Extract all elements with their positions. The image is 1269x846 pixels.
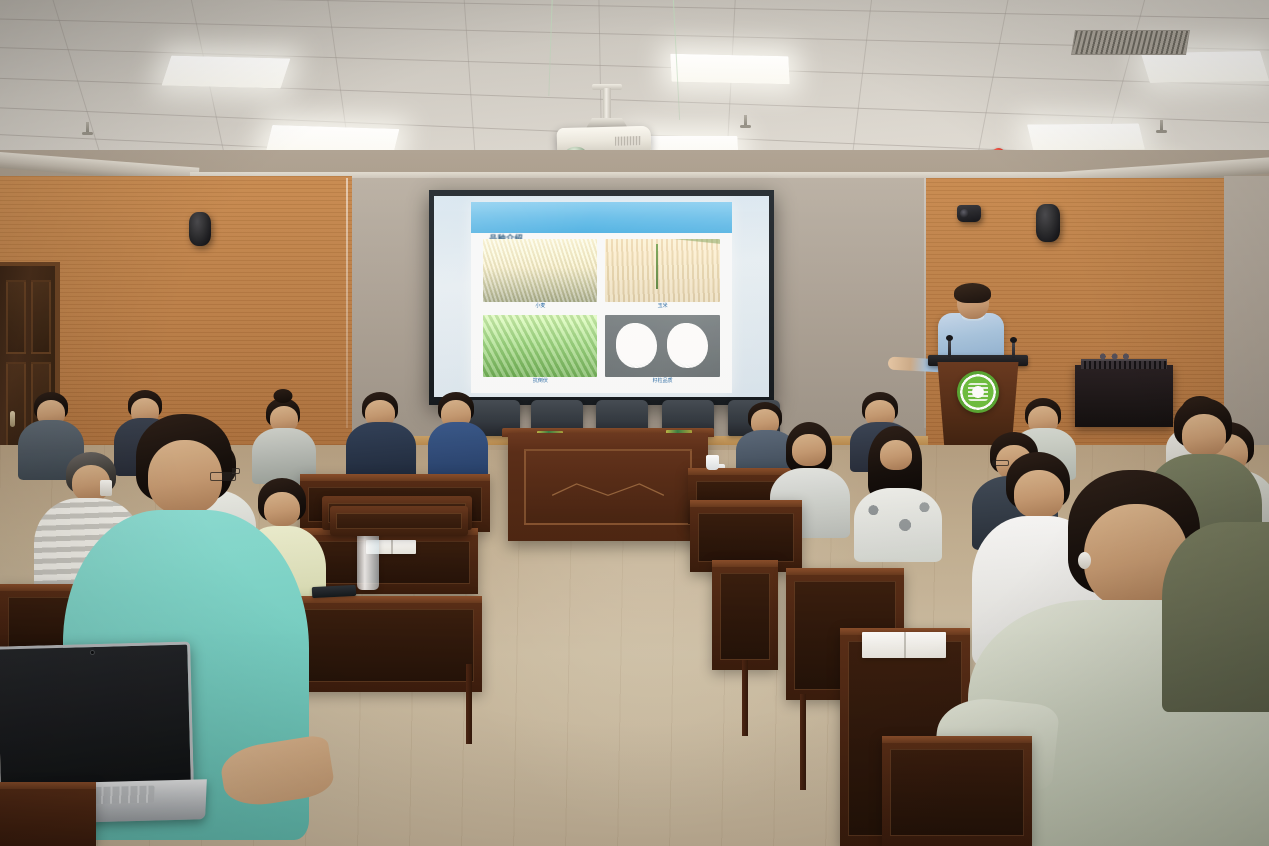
bench-desk xyxy=(882,736,1032,846)
presiding-table xyxy=(508,433,708,541)
presentation-slide: 品种介绍 小麦 玉米 抗倒伏 xyxy=(471,202,732,393)
webcam-icon xyxy=(90,650,95,655)
person-torso xyxy=(1162,522,1269,712)
grain-clump xyxy=(667,323,708,368)
paper-cup xyxy=(706,455,719,470)
person-torso xyxy=(854,488,942,562)
slide-caption: 籽粒品质 xyxy=(605,377,719,386)
bench-panel xyxy=(698,513,794,562)
slide-title-bar xyxy=(471,202,732,233)
sprinkler-head-icon xyxy=(1160,120,1163,131)
ceiling-light-panel xyxy=(670,54,790,84)
chair-leg xyxy=(800,694,806,790)
open-laptop[interactable] xyxy=(0,641,194,786)
screen-surface: 品种介绍 小麦 玉米 抗倒伏 xyxy=(434,196,769,397)
wall-speaker-right xyxy=(1036,204,1060,242)
ceiling-light-panel xyxy=(1141,51,1269,83)
door-panel xyxy=(6,280,26,354)
slide-cell-top-left: 小麦 xyxy=(483,239,597,310)
slide-cell-bottom-left: 抗倒伏 xyxy=(483,315,597,386)
earbud-icon xyxy=(1078,552,1091,569)
bench-panel xyxy=(294,609,474,682)
slide-cell-bottom-right: 籽粒品质 xyxy=(605,315,719,386)
wall-seam xyxy=(346,178,348,428)
slide-caption: 抗倒伏 xyxy=(483,377,597,386)
bench-panel xyxy=(890,749,1024,836)
chair-back[interactable] xyxy=(330,506,468,536)
person-torso xyxy=(428,422,488,478)
hair-clip-icon xyxy=(100,480,112,496)
bench-desk xyxy=(0,782,96,846)
person-torso xyxy=(346,422,416,480)
bench-panel xyxy=(720,573,770,660)
ceiling-light-panel xyxy=(1027,124,1145,151)
seedling-field-photo xyxy=(605,239,719,301)
slide-caption: 小麦 xyxy=(483,302,597,311)
slide-cell-top-right: 玉米 xyxy=(605,239,719,310)
ceiling-light-panel xyxy=(162,56,291,89)
slide-caption: 玉米 xyxy=(605,302,719,311)
sprinkler-head-icon xyxy=(86,122,89,133)
wheat-field-photo xyxy=(483,239,597,301)
chair-leg xyxy=(466,664,472,744)
mixer-knobs xyxy=(1096,352,1130,361)
wall-speaker-left xyxy=(189,212,211,246)
microphone-icon xyxy=(948,339,951,357)
bench-desk xyxy=(712,560,778,670)
security-camera xyxy=(957,205,981,222)
glasses-icon xyxy=(992,460,1009,466)
control-rack xyxy=(1075,365,1173,427)
chair-leg xyxy=(742,660,748,736)
smartphone[interactable] xyxy=(312,585,357,598)
grain-comparison-photo xyxy=(605,315,719,377)
university-emblem xyxy=(957,371,999,413)
sprinkler-head-icon xyxy=(744,115,747,126)
chevron-inlay-pattern xyxy=(552,481,664,498)
open-notebook xyxy=(862,632,946,658)
microphone-icon xyxy=(1012,341,1015,358)
glasses-icon xyxy=(210,472,236,481)
door-handle[interactable] xyxy=(10,411,15,427)
bench-desk xyxy=(286,596,482,692)
projector-pole xyxy=(603,88,611,122)
air-vent xyxy=(1071,30,1190,55)
green-leaf-photo xyxy=(483,315,597,377)
grain-clump xyxy=(616,323,657,368)
slide-image-grid: 小麦 玉米 抗倒伏 籽粒品 xyxy=(481,236,721,389)
projector-vent xyxy=(615,136,641,146)
door-panel xyxy=(31,280,51,354)
projection-screen: 品种介绍 小麦 玉米 抗倒伏 xyxy=(429,190,774,405)
presenter-hair xyxy=(954,283,991,303)
lecture-hall-scene: 品种介绍 小麦 玉米 抗倒伏 xyxy=(0,0,1269,846)
